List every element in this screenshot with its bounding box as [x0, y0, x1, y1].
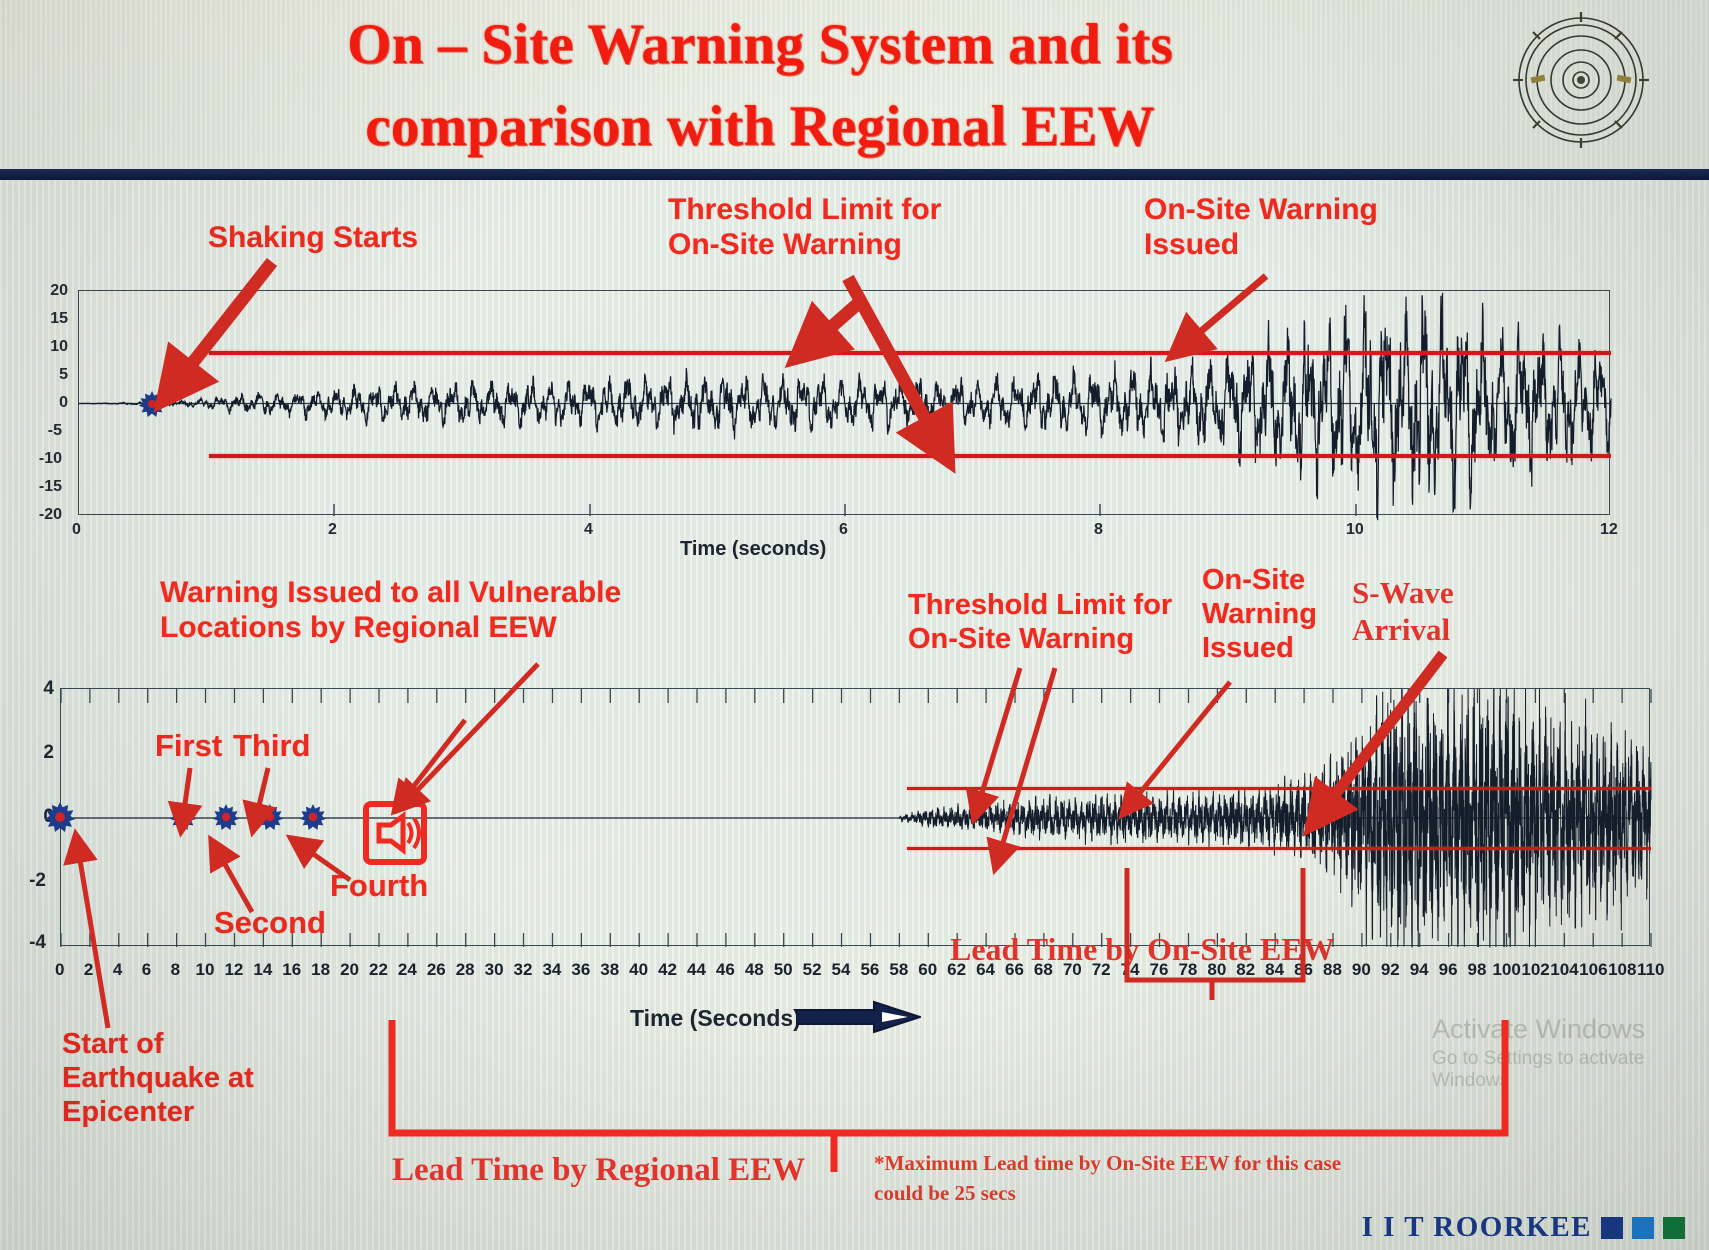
- annotation-regional-warning: Warning Issued to all Vulnerable Locatio…: [160, 575, 621, 646]
- bottom-xtick-54: 54: [832, 960, 851, 980]
- bottom-xtick-22: 22: [369, 960, 388, 980]
- bottom-xtick-40: 40: [629, 960, 648, 980]
- bottom-xtick-30: 30: [485, 960, 504, 980]
- bottom-xtick-90: 90: [1352, 960, 1371, 980]
- threshold-line-upper-bottom: [907, 787, 1651, 790]
- bottom-xtick-36: 36: [571, 960, 590, 980]
- bottom-xtick-16: 16: [282, 960, 301, 980]
- brand-square-1: [1601, 1217, 1623, 1239]
- threshold-line-lower-top: [209, 454, 1611, 458]
- station-marker-second: [213, 804, 239, 830]
- bottom-xtick-52: 52: [803, 960, 822, 980]
- top-ytick-15: 15: [28, 310, 68, 328]
- station-marker-fourth: [300, 804, 326, 830]
- bottom-xtick-106: 106: [1579, 960, 1607, 980]
- top-ytick-10: 10: [28, 338, 68, 356]
- bottom-ytick-2: 2: [20, 742, 54, 764]
- annotation-lead-time-onsite: Lead Time by On-Site EEW: [950, 930, 1335, 968]
- bottom-xtick-46: 46: [716, 960, 735, 980]
- threshold-line-upper-top: [209, 351, 1611, 355]
- marker-label-second: Second: [214, 905, 326, 942]
- bottom-xtick-58: 58: [889, 960, 908, 980]
- bottom-xtick-110: 110: [1637, 960, 1664, 980]
- brand-text: I I T ROORKEE: [1362, 1211, 1592, 1244]
- top-accelerogram-chart: Shaking Starts Threshold Limit for On-Si…: [0, 180, 1709, 550]
- annotation-threshold-limit-top: Threshold Limit for On-Site Warning: [668, 192, 941, 263]
- top-xtick-8: 8: [1094, 521, 1103, 539]
- bottom-xtick-2: 2: [84, 960, 93, 980]
- annotation-threshold-limit-bottom: Threshold Limit for On-Site Warning: [908, 588, 1172, 656]
- windows-activate-watermark-line1: Activate Windows: [1432, 1014, 1645, 1045]
- bottom-xtick-108: 108: [1608, 960, 1636, 980]
- bottom-xtick-6: 6: [142, 960, 151, 980]
- threshold-line-lower-bottom: [907, 847, 1651, 850]
- bottom-xtick-18: 18: [311, 960, 330, 980]
- top-xtick-0: 0: [72, 521, 81, 539]
- bottom-xtick-12: 12: [224, 960, 243, 980]
- annotation-s-wave-arrival: S-Wave Arrival: [1352, 574, 1454, 648]
- top-ytick-n5: -5: [22, 422, 62, 440]
- bottom-ytick-n4: -4: [12, 932, 46, 954]
- bottom-xtick-102: 102: [1521, 960, 1549, 980]
- bottom-xtick-10: 10: [196, 960, 215, 980]
- top-ytick-0: 0: [28, 394, 68, 412]
- annotation-lead-time-regional: Lead Time by Regional EEW: [392, 1151, 805, 1191]
- bottom-xtick-100: 100: [1492, 960, 1520, 980]
- top-xtick-12: 12: [1600, 521, 1618, 539]
- brand-square-3: [1663, 1217, 1685, 1239]
- top-xaxis-title: Time (seconds): [680, 538, 826, 561]
- page-title: On – Site Warning System and its compari…: [150, 4, 1370, 168]
- bottom-xtick-98: 98: [1468, 960, 1487, 980]
- broadcast-warning-icon: [363, 801, 427, 865]
- bottom-xtick-60: 60: [918, 960, 937, 980]
- title-line-2: comparison with Regional EEW: [150, 86, 1370, 168]
- bottom-xtick-50: 50: [774, 960, 793, 980]
- header-divider: [0, 169, 1709, 180]
- bottom-xtick-24: 24: [398, 960, 417, 980]
- time-direction-arrow-icon: [796, 1000, 921, 1034]
- footnote-max-lead-time: *Maximum Lead time by On-Site EEW for th…: [874, 1148, 1341, 1209]
- bottom-xtick-14: 14: [253, 960, 272, 980]
- top-ytick-5: 5: [28, 366, 68, 384]
- bottom-xtick-96: 96: [1439, 960, 1458, 980]
- top-waveform: [79, 291, 1611, 516]
- top-ytick-20: 20: [28, 282, 68, 300]
- annotation-onsite-warning-issued-bottom: On-Site Warning Issued: [1202, 563, 1317, 666]
- station-marker-first: [170, 804, 196, 830]
- bottom-xtick-92: 92: [1381, 960, 1400, 980]
- station-marker-third: [257, 804, 283, 830]
- bottom-xtick-56: 56: [860, 960, 879, 980]
- bottom-xaxis-title: Time (Seconds): [630, 1005, 801, 1032]
- top-plot-area: [78, 290, 1610, 515]
- title-line-1: On – Site Warning System and its: [150, 4, 1370, 86]
- marker-label-fourth: Fourth: [330, 868, 428, 905]
- bottom-xtick-44: 44: [687, 960, 706, 980]
- iit-roorkee-footer-brand: I I T ROORKEE: [1362, 1211, 1685, 1244]
- annotation-onsite-warning-issued-top: On-Site Warning Issued: [1144, 192, 1378, 263]
- top-xtick-6: 6: [839, 521, 848, 539]
- top-ytick-n20: -20: [22, 506, 62, 524]
- bottom-xtick-104: 104: [1550, 960, 1578, 980]
- station-marker-start-of-earthquake-at-epicenter: [45, 802, 75, 832]
- bottom-xtick-28: 28: [456, 960, 475, 980]
- brand-square-2: [1632, 1217, 1654, 1239]
- annotation-shaking-starts: Shaking Starts: [208, 220, 418, 255]
- bottom-xtick-32: 32: [514, 960, 533, 980]
- bottom-xtick-4: 4: [113, 960, 122, 980]
- top-xtick-10: 10: [1346, 521, 1364, 539]
- marker-label-third: Third: [233, 728, 311, 765]
- marker-label-first: First: [155, 728, 222, 765]
- bottom-xtick-0: 0: [55, 960, 64, 980]
- top-ytick-n15: -15: [22, 478, 62, 496]
- slide-header: On – Site Warning System and its compari…: [0, 0, 1709, 172]
- top-xtick-4: 4: [584, 521, 593, 539]
- epicenter-star-marker: [139, 391, 165, 417]
- bottom-xtick-26: 26: [427, 960, 446, 980]
- bottom-xtick-94: 94: [1410, 960, 1429, 980]
- bottom-xtick-20: 20: [340, 960, 359, 980]
- windows-activate-watermark-line2: Go to Settings to activate Windows: [1432, 1048, 1709, 1092]
- bottom-ytick-4: 4: [20, 678, 54, 700]
- annotation-start-of-earthquake: Start of Earthquake at Epicenter: [62, 1027, 254, 1130]
- bottom-xtick-34: 34: [542, 960, 561, 980]
- bottom-xtick-48: 48: [745, 960, 764, 980]
- bottom-xtick-38: 38: [600, 960, 619, 980]
- top-ytick-n10: -10: [22, 450, 62, 468]
- bottom-ytick-n2: -2: [12, 870, 46, 892]
- bottom-xtick-42: 42: [658, 960, 677, 980]
- top-xtick-2: 2: [328, 521, 337, 539]
- iit-roorkee-emblem-icon: [1511, 8, 1651, 158]
- bottom-xtick-8: 8: [171, 960, 180, 980]
